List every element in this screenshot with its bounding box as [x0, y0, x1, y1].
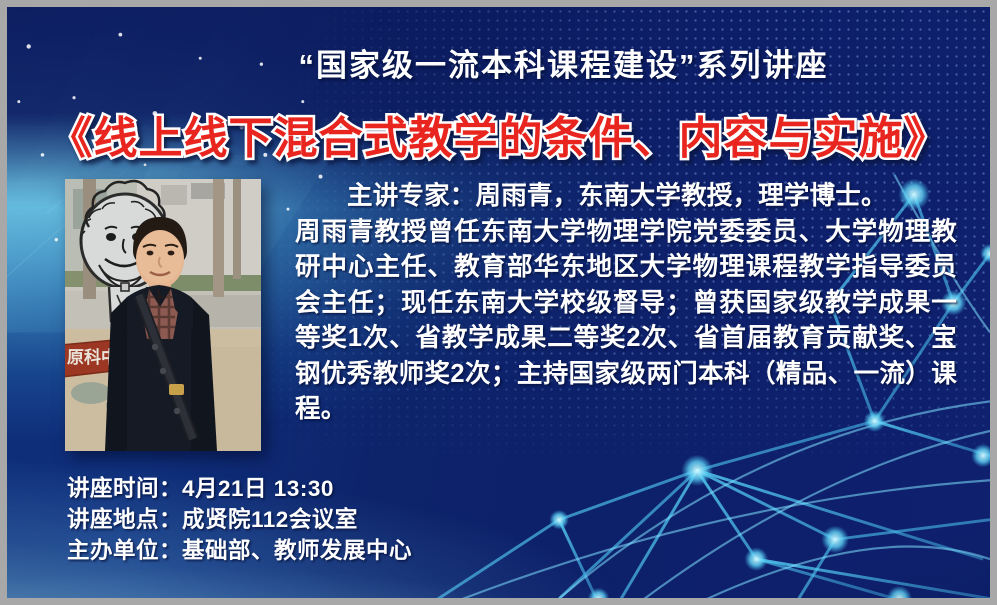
series-kicker: “国家级一流本科课程建设”系列讲座: [7, 40, 990, 85]
lecture-details: 讲座时间：4月21日 13:30 讲座地点：成贤院112会议室 主办单位：基础部…: [67, 473, 412, 566]
detail-location: 讲座地点：成贤院112会议室: [67, 504, 412, 535]
speaker-photo: 原科中: [65, 179, 261, 451]
detail-location-label: 讲座地点：: [67, 507, 182, 532]
bio-paragraph-1: 主讲专家：周雨青，东南大学教授，理学博士。: [347, 182, 887, 210]
lecture-title: 《线上线下混合式教学的条件、内容与实施》: [7, 102, 990, 166]
speaker-photo-illustration: 原科中: [65, 179, 261, 451]
detail-location-value: 成贤院112会议室: [182, 507, 358, 532]
detail-organizer-value: 基础部、教师发展中心: [182, 538, 412, 563]
poster-canvas: 原科中: [7, 7, 990, 598]
speaker-bio: 主讲专家：周雨青，东南大学教授，理学博士。 周雨青教授曾任东南大学物理学院党委委…: [295, 179, 957, 428]
bio-paragraph-2: 周雨青教授曾任东南大学物理学院党委委员、大学物理教研中心主任、教育部华东地区大学…: [295, 215, 957, 428]
detail-organizer-label: 主办单位：: [67, 538, 182, 563]
detail-time: 讲座时间：4月21日 13:30: [67, 473, 412, 504]
lecture-poster: 原科中: [0, 0, 997, 605]
bio-line-intro: 主讲专家：周雨青，东南大学教授，理学博士。: [295, 179, 957, 215]
lecture-title-text: 《线上线下混合式教学的条件、内容与实施》: [49, 114, 949, 163]
detail-time-label: 讲座时间：: [67, 476, 182, 501]
detail-time-value: 4月21日 13:30: [182, 476, 334, 501]
detail-organizer: 主办单位：基础部、教师发展中心: [67, 535, 412, 566]
